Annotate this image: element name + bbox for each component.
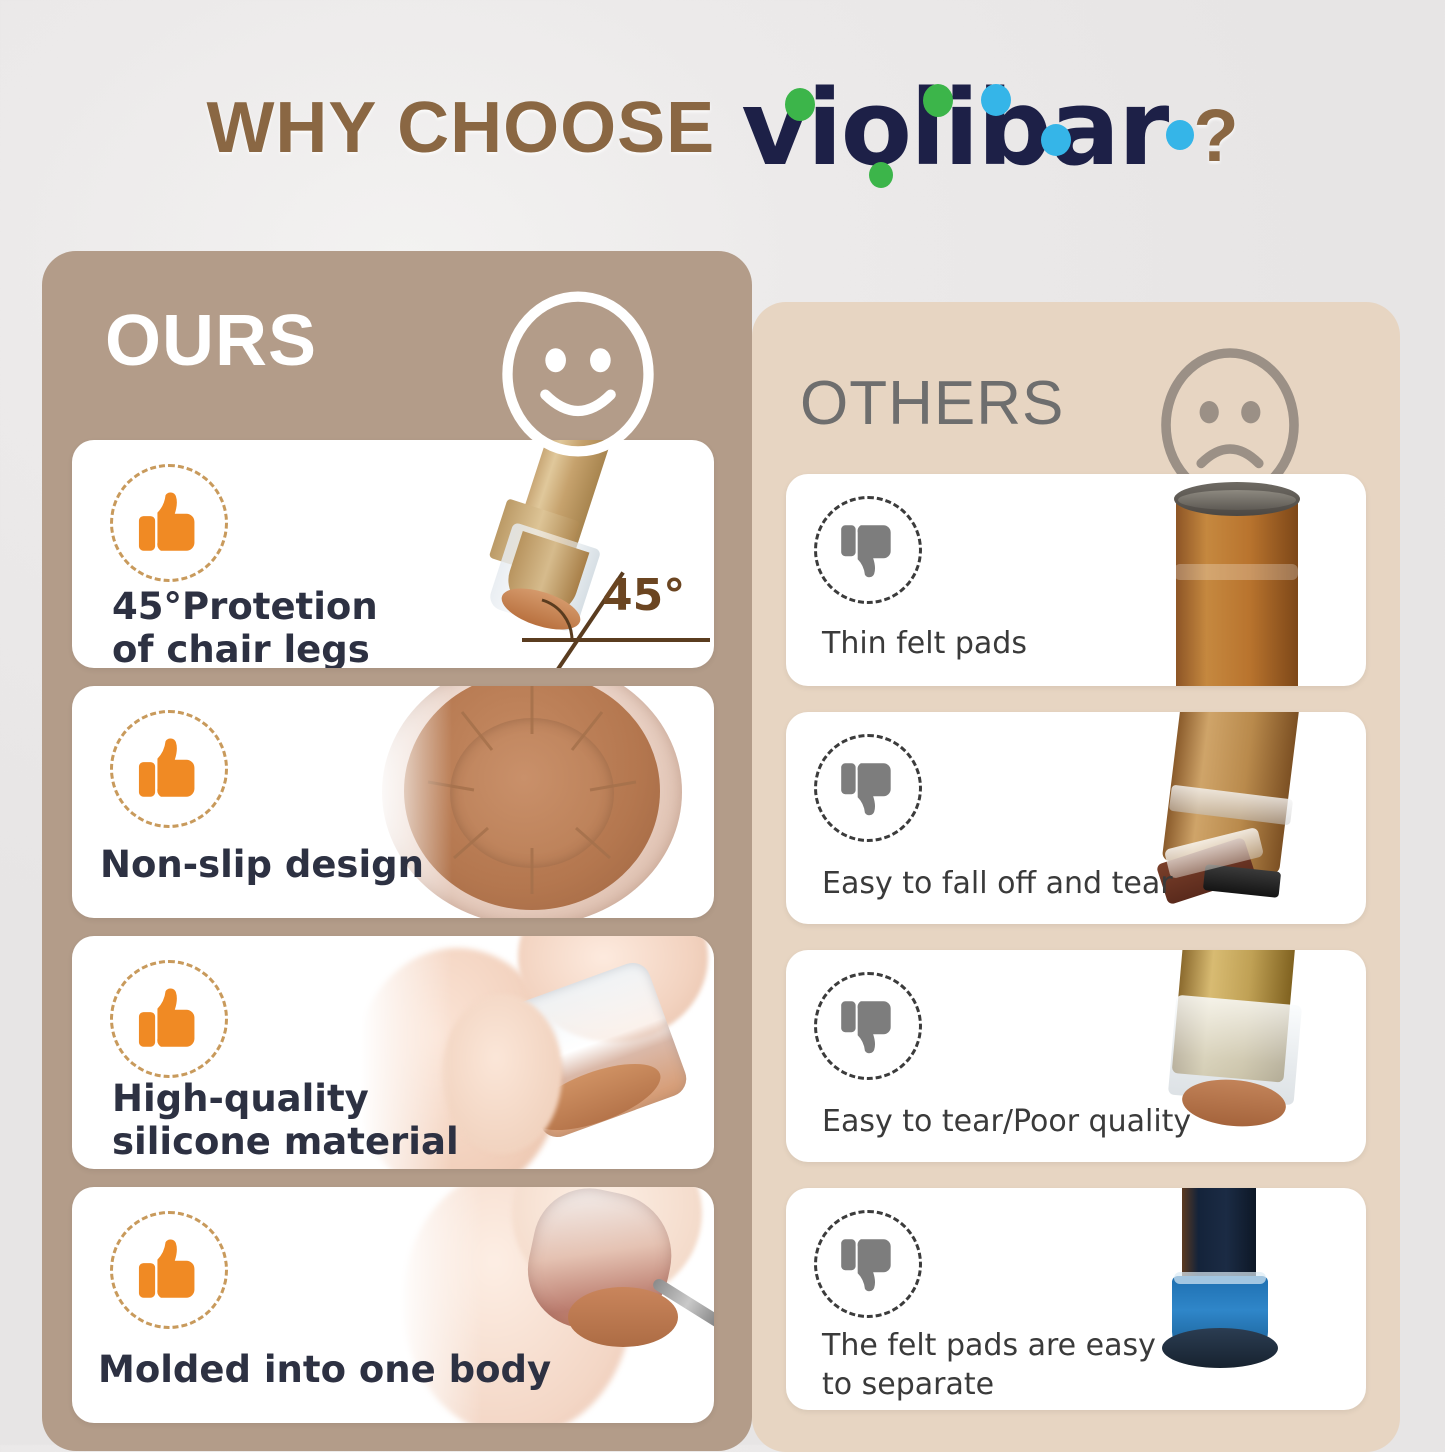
thumbs-down-icon-2: [814, 734, 922, 842]
ours-card-2[interactable]: Non-slip design: [72, 686, 714, 918]
thumbs-up-icon-1: [110, 464, 228, 582]
infographic-canvas: WHY CHOOSE violibar ? OURS: [0, 0, 1445, 1445]
thumbs-up-glyph: [132, 1233, 206, 1307]
others-card-2-label: Easy to fall off and tear: [822, 864, 1173, 903]
ours-card-4[interactable]: Molded into one body: [72, 1187, 714, 1423]
thumbs-up-glyph: [132, 486, 206, 560]
angle-arc-icon: [520, 594, 590, 644]
others-card-3-label-line1: Easy to tear/Poor quality: [822, 1102, 1191, 1141]
happy-face-icon: [492, 288, 664, 460]
angle-label: 45°: [602, 570, 685, 621]
others-card-4-label-line1: The felt pads are easy: [822, 1326, 1156, 1365]
others-card-2-label-line1: Easy to fall off and tear: [822, 864, 1173, 903]
others-card-3[interactable]: Easy to tear/Poor quality: [786, 950, 1366, 1162]
logo-dot-green-1: [785, 88, 815, 121]
brand-logo: violibar: [741, 76, 1167, 180]
thumbs-up-icon-3: [110, 960, 228, 1078]
ours-card-3-label-line1: High-quality: [112, 1078, 459, 1121]
thumbs-down-glyph: [835, 755, 901, 821]
logo-dot-blue-2: [1041, 124, 1071, 156]
others-card-4-label: The felt pads are easy to separate: [822, 1326, 1156, 1404]
ours-card-1-label-line1: 45°Protetion: [112, 586, 378, 629]
others-card-1-label: Thin felt pads: [822, 624, 1027, 663]
ours-card-1[interactable]: 45° 45°Protetion of chair legs: [72, 440, 714, 668]
ours-card-2-label-line1: Non-slip design: [100, 844, 424, 887]
ours-card-3-label-line2: silicone material: [112, 1121, 459, 1164]
page-title-prefix: WHY CHOOSE: [206, 87, 715, 169]
worn-felt-pad-leg-photo: [1116, 474, 1366, 686]
thumbs-up-icon-4: [110, 1211, 228, 1329]
thumbs-down-icon-4: [814, 1210, 922, 1318]
thumbs-up-icon-2: [110, 710, 228, 828]
thumbs-down-icon-3: [814, 972, 922, 1080]
others-card-4[interactable]: The felt pads are easy to separate: [786, 1188, 1366, 1410]
logo-dot-green-2: [923, 84, 953, 117]
thumbs-up-glyph: [132, 732, 206, 806]
ours-card-4-label-line1: Molded into one body: [98, 1349, 551, 1392]
thumbs-up-glyph: [132, 982, 206, 1056]
thumbs-down-glyph: [835, 993, 901, 1059]
ours-card-3-label: High-quality silicone material: [112, 1078, 459, 1164]
brand-logo-text: violibar: [741, 67, 1167, 189]
thumbs-down-icon-1: [814, 496, 922, 604]
others-card-2[interactable]: Easy to fall off and tear: [786, 712, 1366, 924]
logo-dot-blue-1: [981, 84, 1011, 116]
thumbs-down-glyph: [835, 517, 901, 583]
others-card-3-label: Easy to tear/Poor quality: [822, 1102, 1191, 1141]
ours-card-1-label: 45°Protetion of chair legs: [112, 586, 378, 668]
ours-card-1-label-line2: of chair legs: [112, 629, 378, 668]
others-card-1-label-line1: Thin felt pads: [822, 624, 1027, 663]
thumbs-down-glyph: [835, 1231, 901, 1297]
question-mark: ?: [1193, 93, 1238, 178]
others-card-4-label-line2: to separate: [822, 1365, 1156, 1404]
ours-card-4-label: Molded into one body: [98, 1349, 551, 1392]
others-panel-title: OTHERS: [800, 368, 1064, 439]
logo-dot-blue-3: [1166, 120, 1194, 150]
ours-panel-title: OURS: [105, 300, 317, 382]
page-header: WHY CHOOSE violibar ?: [0, 58, 1445, 198]
chair-leg-45-degree-photo: 45°: [402, 440, 714, 668]
others-card-1[interactable]: Thin felt pads: [786, 474, 1366, 686]
ours-card-3[interactable]: High-quality silicone material: [72, 936, 714, 1169]
ours-card-2-label: Non-slip design: [100, 844, 424, 887]
